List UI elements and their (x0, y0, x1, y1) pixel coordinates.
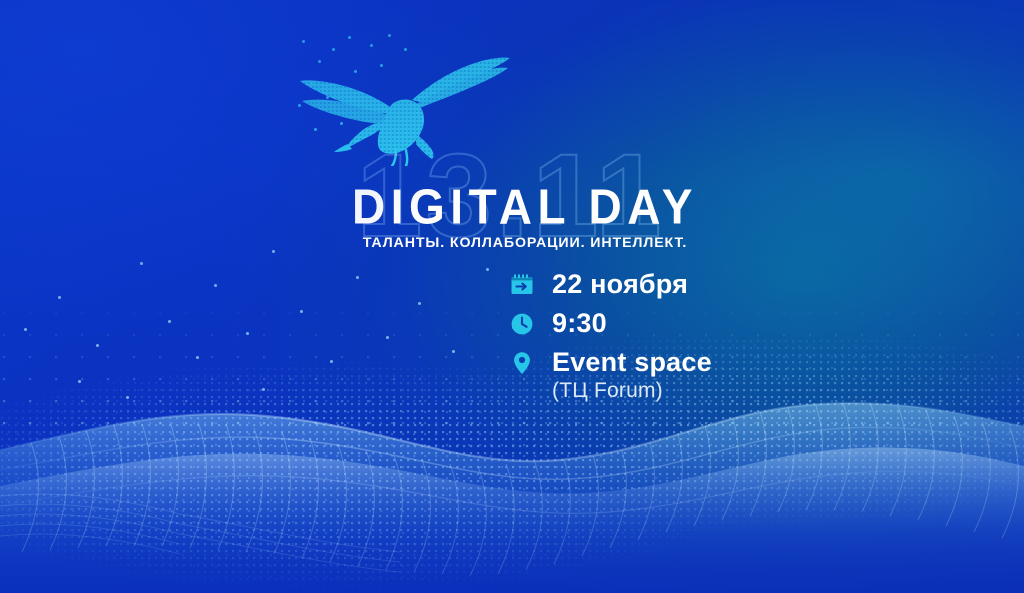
background-vignette (0, 0, 1024, 593)
event-poster: 13.11 DIGITAL DAY ТАЛАНТЫ. КОЛЛАБОРАЦИИ.… (0, 0, 1024, 593)
